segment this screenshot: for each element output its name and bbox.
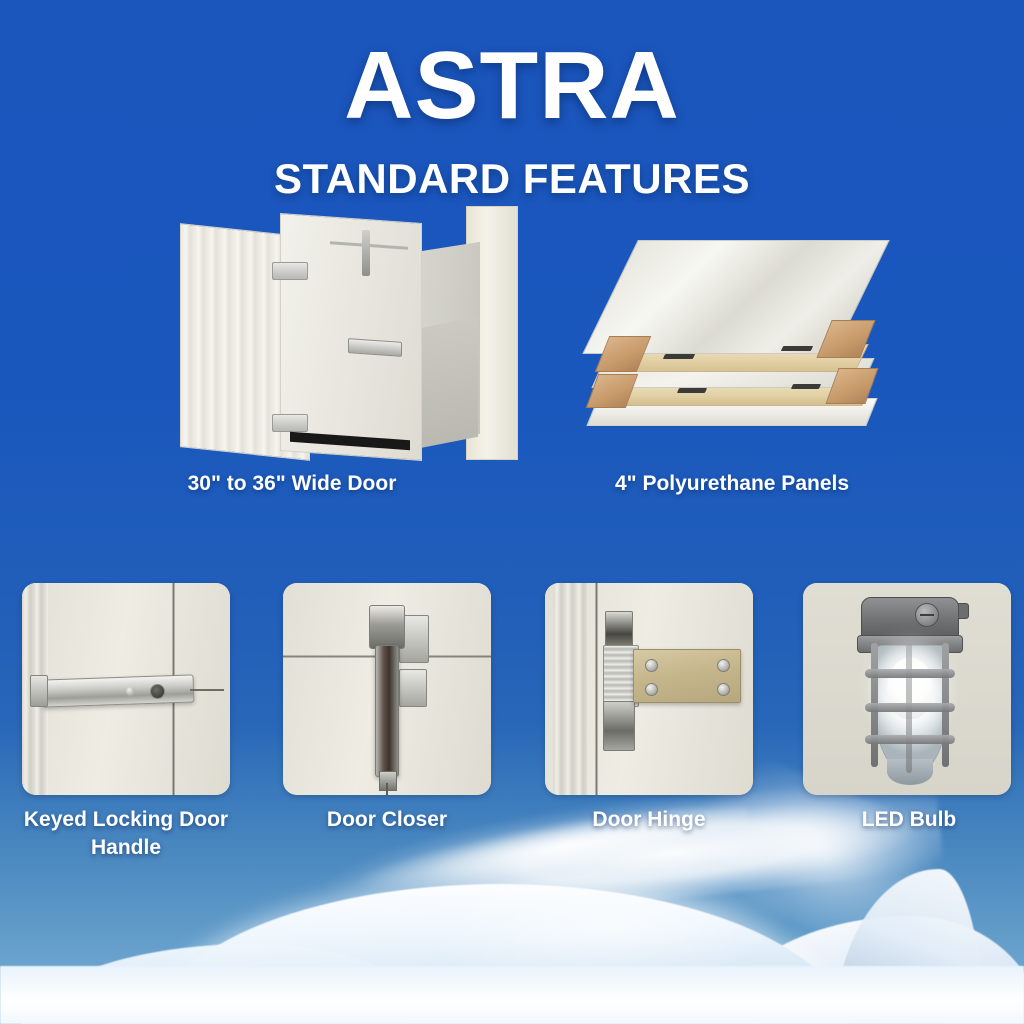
closer-scene	[283, 583, 491, 795]
latch-bar	[42, 674, 195, 707]
feature-caption-keyed-locking-door-handle: Keyed Locking Door Handle	[6, 806, 246, 863]
led-cage-ring-top	[865, 669, 955, 678]
closer-foot	[379, 771, 397, 791]
feature-caption-led-bulb: LED Bulb	[789, 806, 1024, 834]
hinge-screw-top-right	[717, 659, 730, 672]
feature-caption-door-hinge: Door Hinge	[529, 806, 769, 834]
closer-rod	[386, 783, 388, 795]
keyhole	[150, 684, 165, 699]
door-seam	[595, 583, 598, 795]
led-scene	[803, 583, 1011, 795]
hinge-pin-bottom	[603, 701, 635, 751]
walk-in-cooler-photo	[82, 212, 502, 462]
walk-in-cooler-illustration	[180, 214, 410, 460]
hinge-screw-bottom-right	[717, 683, 730, 696]
bottom-feature-row	[0, 583, 1024, 795]
feature-card-panels: 4" Polyurethane Panels	[522, 212, 942, 542]
hinge-screw-top-left	[645, 659, 658, 672]
door-hinge-photo	[545, 583, 753, 795]
feature-caption-door-closer: Door Closer	[267, 806, 507, 834]
astra-standard-features-poster: ASTRA STANDARD FEATURES 30	[0, 0, 1024, 1024]
closer-cylinder	[375, 645, 399, 777]
page-title: ASTRA	[0, 38, 1024, 134]
page-subtitle: STANDARD FEATURES	[0, 158, 1024, 200]
insulated-panel-stack-photo	[522, 212, 942, 462]
panel-cam-lock-slot-4	[791, 384, 821, 389]
panel-cam-lock-slot-2	[781, 346, 813, 351]
door-closer-photo	[283, 583, 491, 795]
handle-scene	[22, 583, 230, 795]
cooler-hinge-bottom	[272, 414, 308, 432]
led-conduit-knob	[915, 603, 939, 627]
snowfield	[0, 966, 1024, 1024]
feature-caption-panels: 4" Polyurethane Panels	[522, 470, 942, 498]
led-bulb-photo	[803, 583, 1011, 795]
led-cage-ring-middle	[865, 703, 955, 712]
latch-pin	[190, 689, 224, 691]
panel-stack-illustration	[592, 240, 882, 440]
closer-bracket-lower	[399, 669, 427, 707]
closer-cap	[369, 605, 405, 649]
keyed-locking-door-handle-photo	[22, 583, 230, 795]
hinge-screw-bottom-left	[645, 683, 658, 696]
feature-card-wide-door: 30" to 36" Wide Door	[82, 212, 502, 542]
panel-cam-lock-slot-1	[663, 354, 695, 359]
feature-caption-wide-door: 30" to 36" Wide Door	[82, 470, 502, 498]
cooler-hinge-top	[272, 262, 308, 280]
top-feature-row: 30" to 36" Wide Door	[0, 212, 1024, 542]
door-ribs	[553, 583, 587, 795]
panel-cam-lock-slot-3	[677, 388, 707, 393]
cooler-door-closer	[362, 230, 370, 276]
led-cage-ring-bottom	[865, 735, 955, 744]
hinge-scene	[545, 583, 753, 795]
latch-screw	[126, 687, 135, 696]
latch-hook	[30, 675, 48, 707]
